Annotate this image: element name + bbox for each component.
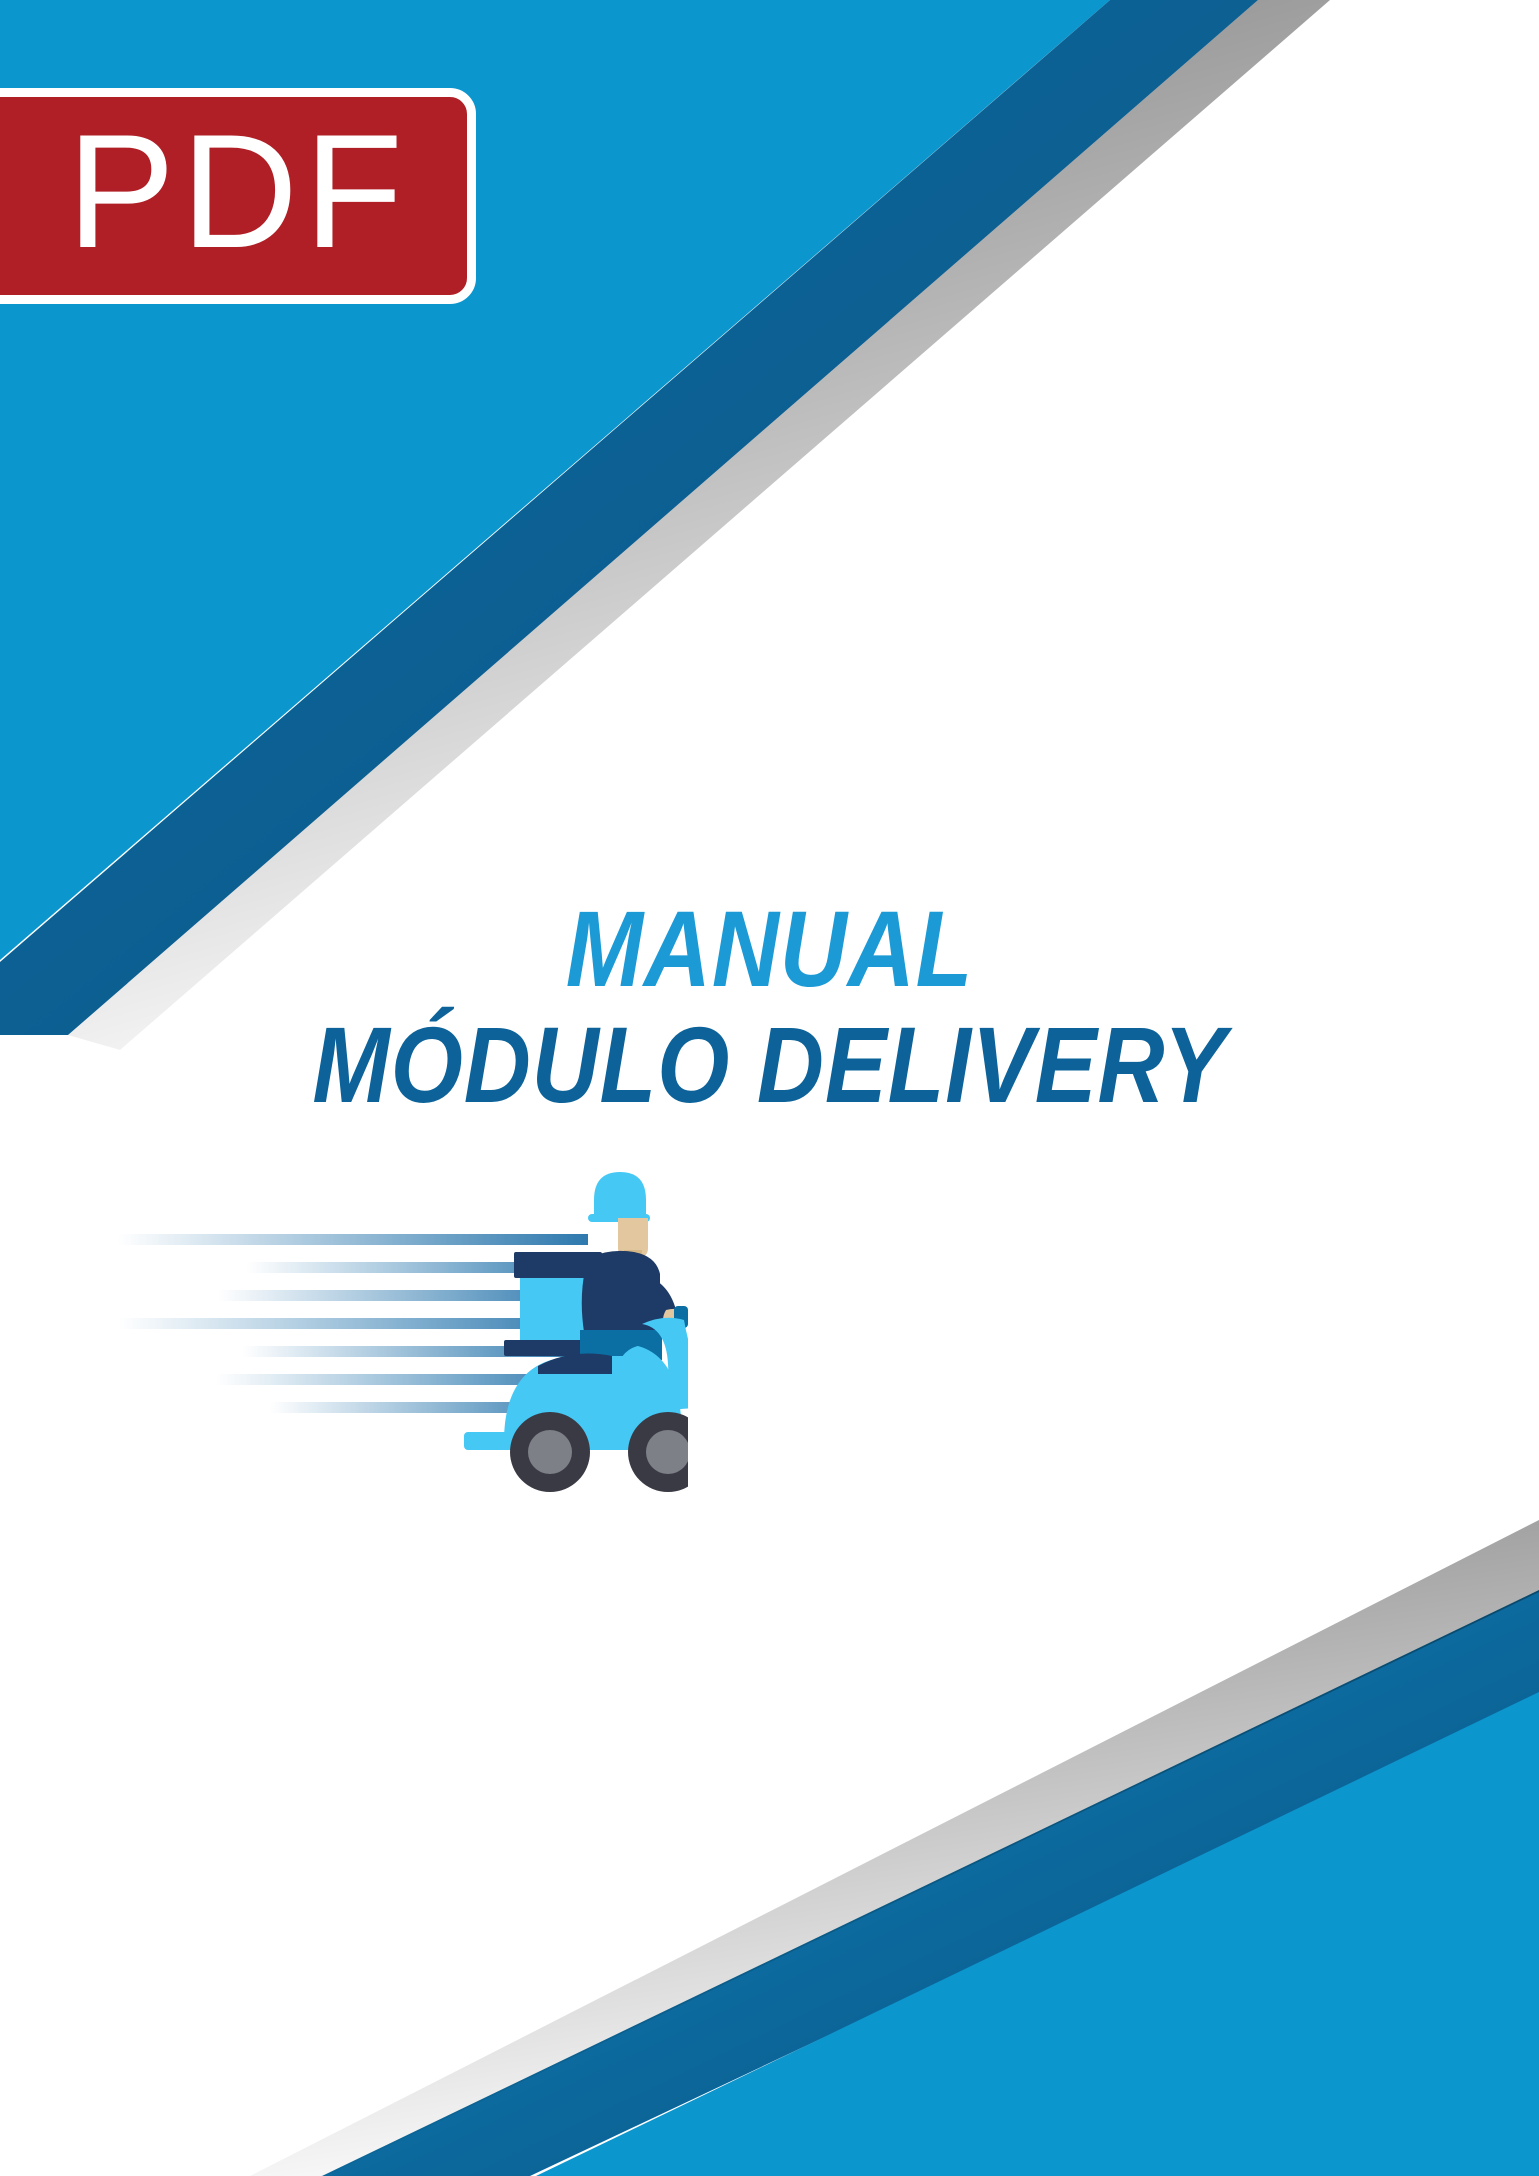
- rear-wheel: [510, 1412, 590, 1492]
- delivery-scooter-illustration: [118, 1170, 688, 1500]
- document-cover-page: PDF MANUAL MÓDULO DELIVERY: [0, 0, 1539, 2176]
- logo-d-mark: [1321, 1322, 1429, 1486]
- page-title-secondary: MÓDULO DELIVERY: [108, 1011, 1432, 1119]
- helmet: [594, 1172, 646, 1216]
- brand-logo: TM SOFTWARE: [1163, 1300, 1473, 1550]
- logo-wordmark: SOFTWARE: [1192, 1497, 1451, 1541]
- cover-title-block: MANUAL MÓDULO DELIVERY: [0, 895, 1539, 1119]
- pdf-format-badge: PDF: [0, 88, 476, 304]
- page-title-primary: MANUAL: [108, 895, 1432, 1003]
- pdf-badge-label: PDF: [33, 111, 409, 281]
- logo-trademark: TM: [1421, 1310, 1459, 1340]
